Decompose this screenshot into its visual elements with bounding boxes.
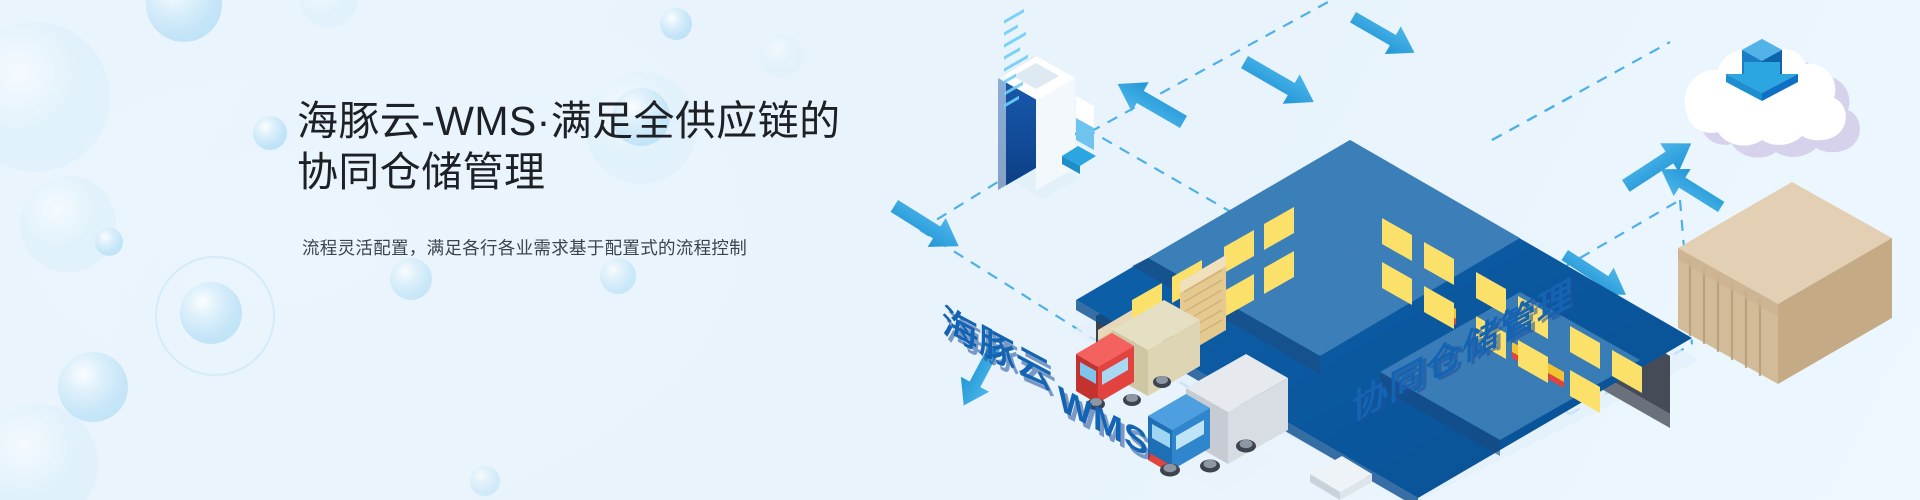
banner-text-block: 海豚云-WMS·满足全供应链的 协同仓储管理 流程灵活配置，满足各行各业需求基于… [297,96,937,261]
bokeh-circle [95,228,123,256]
bokeh-circle [58,352,128,422]
bokeh-circle [253,116,287,150]
shipping-container-icon [1678,182,1892,384]
bokeh-circle [760,34,804,78]
bokeh-circle [20,176,116,272]
bokeh-circle [660,8,692,40]
cloud-download-icon [1685,39,1860,158]
bokeh-circle [390,258,432,300]
banner-headline: 海豚云-WMS·满足全供应链的 协同仓储管理 [297,96,937,198]
warehouse-illustration: 海豚云 海豚云 WMS WMS 协同仓储管理 协同仓储管理 [880,0,1920,500]
bokeh-circle [600,258,636,294]
bokeh-circle [300,0,358,28]
banner-subtitle: 流程灵活配置，满足各行各业需求基于配置式的流程控制 [302,235,937,261]
bokeh-circle [470,466,500,496]
promo-banner: 海豚云-WMS·满足全供应链的 协同仓储管理 流程灵活配置，满足各行各业需求基于… [0,0,1920,500]
bokeh-circle [0,22,110,172]
bokeh-circle [146,0,222,42]
server-rack-icon [996,9,1096,199]
bokeh-circle [155,256,275,376]
bokeh-circle [0,404,98,500]
bokeh-circle [180,282,242,344]
